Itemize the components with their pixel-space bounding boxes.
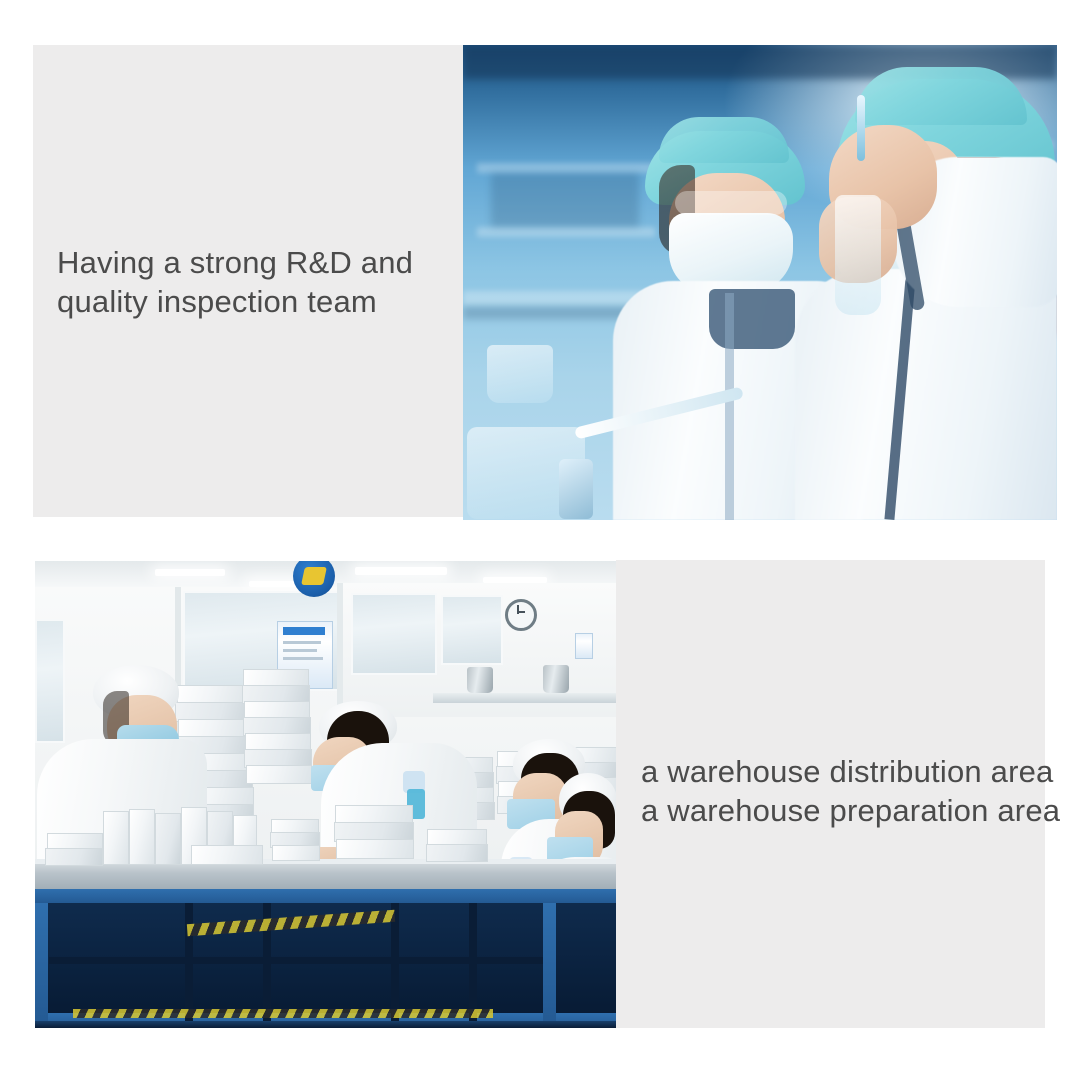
- warehouse-caption-line-2: a warehouse preparation area: [641, 793, 1060, 828]
- poster-canvas: Having a strong R&D andquality inspectio…: [0, 0, 1080, 1080]
- warehouse-scene: [35, 561, 616, 1028]
- warehouse-caption: a warehouse distribution areaa warehouse…: [641, 752, 1060, 830]
- quality-team-photo: [463, 45, 1057, 520]
- warehouse-caption-line-1: a warehouse distribution area: [641, 754, 1054, 789]
- quality-team-caption-line-2: quality inspection team: [57, 284, 377, 319]
- quality-team-caption-line-1: Having a strong R&D and: [57, 245, 413, 280]
- laboratory-scene: [463, 45, 1057, 520]
- warehouse-photo: [35, 561, 616, 1028]
- quality-team-caption: Having a strong R&D andquality inspectio…: [57, 243, 413, 321]
